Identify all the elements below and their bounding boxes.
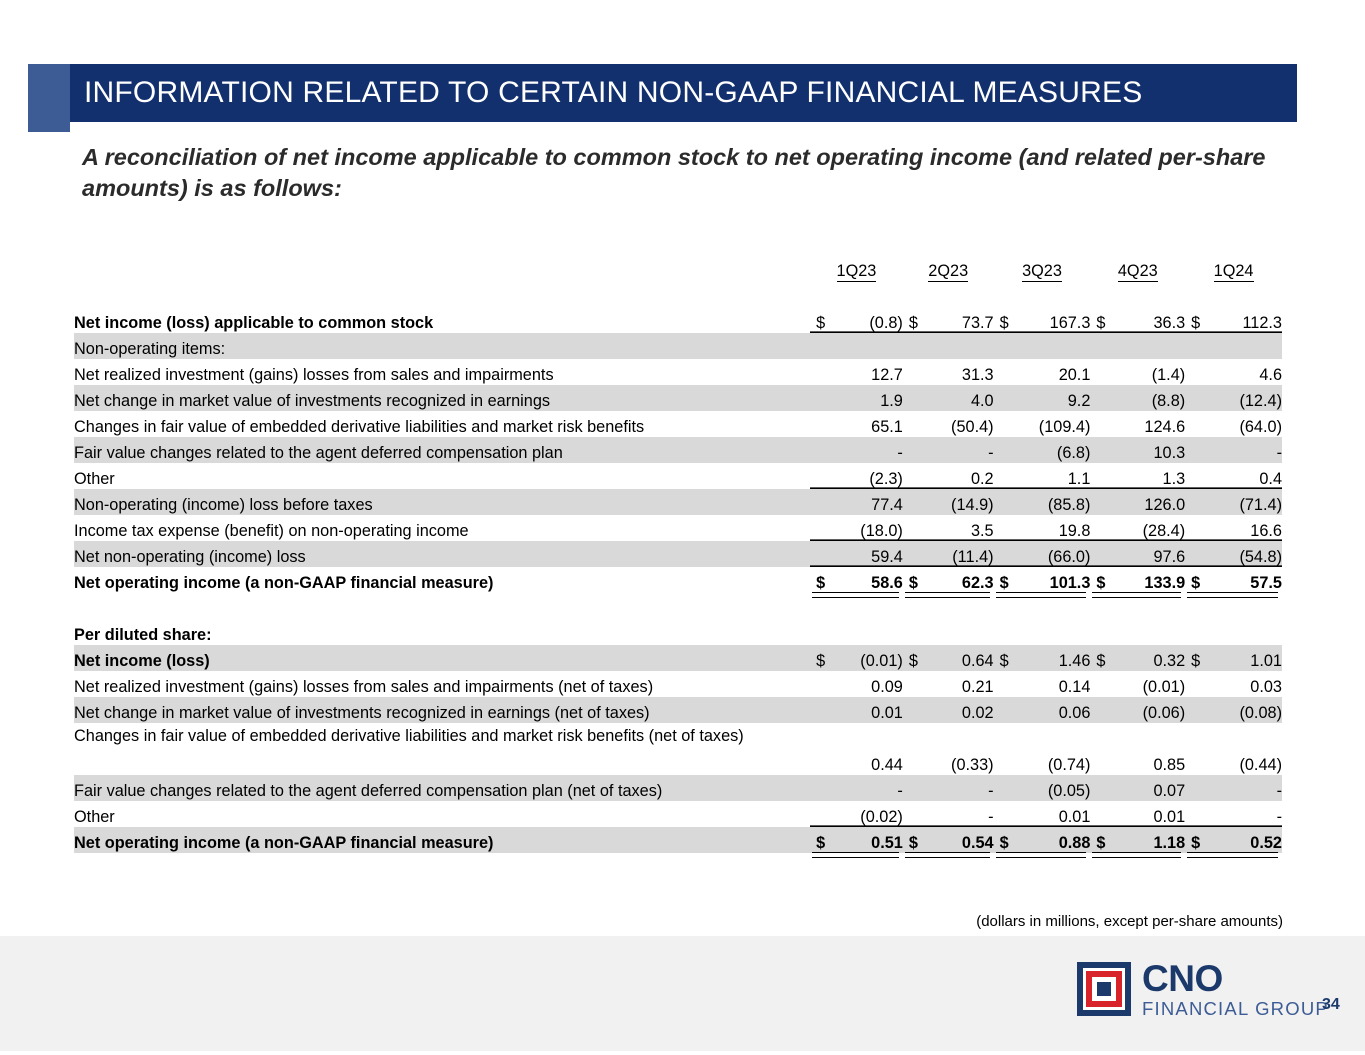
cell-value: (0.01) xyxy=(1090,671,1185,697)
currency-symbol: $ xyxy=(909,652,918,671)
cell-value: $167.3 xyxy=(994,307,1091,333)
row-label: Net change in market value of investment… xyxy=(74,385,810,411)
cell-value: 1.9 xyxy=(810,385,903,411)
cell-value: (109.4) xyxy=(994,411,1091,437)
cell-value: $0.54 xyxy=(903,827,994,853)
table-row-total: Net operating income (a non-GAAP financi… xyxy=(74,567,1282,593)
header-gap xyxy=(74,281,1282,307)
cell-value: 0.01 xyxy=(994,801,1091,827)
currency-symbol: $ xyxy=(1096,834,1105,853)
row-label: Net non-operating (income) loss xyxy=(74,541,810,567)
cell-value: (54.8) xyxy=(1185,541,1282,567)
row-label: Other xyxy=(74,801,810,827)
cell-value: 0.01 xyxy=(1090,801,1185,827)
cell-value: 10.3 xyxy=(1090,437,1185,463)
cell-value: (0.33) xyxy=(903,723,994,775)
table-row: Net non-operating (income) loss 59.4 (11… xyxy=(74,541,1282,567)
cell-value: 124.6 xyxy=(1090,411,1185,437)
row-label: Net income (loss) xyxy=(74,645,810,671)
column-header-4q23: 4Q23 xyxy=(1090,255,1185,281)
row-label: Net change in market value of investment… xyxy=(74,697,810,723)
row-label: Non-operating items: xyxy=(74,333,810,359)
cell-value: $0.52 xyxy=(1185,827,1282,853)
cell-value: - xyxy=(810,437,903,463)
cell-value: $1.46 xyxy=(994,645,1091,671)
cno-square-logo-icon xyxy=(1077,962,1131,1016)
cell-value: 1.1 xyxy=(994,463,1091,489)
table-row: Net change in market value of investment… xyxy=(74,697,1282,723)
table-row: Other (2.3) 0.2 1.1 1.3 0.4 xyxy=(74,463,1282,489)
row-label: Net operating income (a non-GAAP financi… xyxy=(74,567,810,593)
logo-wordmark: CNO FINANCIAL GROUP xyxy=(1142,960,1329,1019)
cell-value: (8.8) xyxy=(1090,385,1185,411)
table-row: Income tax expense (benefit) on non-oper… xyxy=(74,515,1282,541)
cell-value xyxy=(1185,333,1282,359)
row-label: Non-operating (income) loss before taxes xyxy=(74,489,810,515)
cell-value: - xyxy=(1185,775,1282,801)
currency-symbol: $ xyxy=(1000,314,1009,333)
currency-symbol: $ xyxy=(909,314,918,333)
cell-value: 31.3 xyxy=(903,359,994,385)
table-header-row: 1Q23 2Q23 3Q23 4Q23 1Q24 xyxy=(74,255,1282,281)
cell-value: 0.06 xyxy=(994,697,1091,723)
table-row: Changes in fair value of embedded deriva… xyxy=(74,723,1282,775)
cell-value: - xyxy=(903,801,994,827)
cell-value xyxy=(994,333,1091,359)
cell-value: 0.07 xyxy=(1090,775,1185,801)
cell-value: 0.09 xyxy=(810,671,903,697)
cell-value: 3.5 xyxy=(903,515,994,541)
cell-value: (2.3) xyxy=(810,463,903,489)
cell-value: (0.74) xyxy=(994,723,1091,775)
row-label: Other xyxy=(74,463,810,489)
page-title: INFORMATION RELATED TO CERTAIN NON-GAAP … xyxy=(70,76,1142,110)
cell-value: $58.6 xyxy=(810,567,903,593)
cno-logo: CNO FINANCIAL GROUP xyxy=(1077,960,1329,1019)
cell-value: 19.8 xyxy=(994,515,1091,541)
currency-symbol: $ xyxy=(1191,652,1200,671)
currency-symbol: $ xyxy=(909,574,918,593)
column-header-1q24: 1Q24 xyxy=(1185,255,1282,281)
cell-value: 1.3 xyxy=(1090,463,1185,489)
cell-value: (66.0) xyxy=(994,541,1091,567)
slide-title-bar: INFORMATION RELATED TO CERTAIN NON-GAAP … xyxy=(70,64,1297,122)
logo-company-name: CNO xyxy=(1142,960,1329,997)
cell-value: (0.08) xyxy=(1185,697,1282,723)
cell-value: - xyxy=(1185,801,1282,827)
row-label: Income tax expense (benefit) on non-oper… xyxy=(74,515,810,541)
currency-symbol: $ xyxy=(816,314,825,333)
table-row: Non-operating items: xyxy=(74,333,1282,359)
cell-value: 0.14 xyxy=(994,671,1091,697)
slide-subtitle: A reconciliation of net income applicabl… xyxy=(82,142,1282,204)
reconciliation-table: 1Q23 2Q23 3Q23 4Q23 1Q24 Net income (los… xyxy=(74,255,1282,853)
row-label: Fair value changes related to the agent … xyxy=(74,775,810,801)
cell-value: $133.9 xyxy=(1090,567,1185,593)
row-label: Net realized investment (gains) losses f… xyxy=(74,359,810,385)
currency-symbol: $ xyxy=(1000,574,1009,593)
cell-value: (11.4) xyxy=(903,541,994,567)
cell-value: 0.85 xyxy=(1090,723,1185,775)
cell-value: (14.9) xyxy=(903,489,994,515)
cell-value: (12.4) xyxy=(1185,385,1282,411)
logo-tagline: FINANCIAL GROUP xyxy=(1142,1000,1329,1019)
cell-value xyxy=(810,333,903,359)
per-share-section-header-row: Per diluted share: xyxy=(74,619,1282,645)
cell-value: 4.6 xyxy=(1185,359,1282,385)
currency-symbol: $ xyxy=(1000,652,1009,671)
cell-value: - xyxy=(1185,437,1282,463)
title-accent-block xyxy=(28,64,70,132)
cell-value: 16.6 xyxy=(1185,515,1282,541)
cell-value: $(0.01) xyxy=(810,645,903,671)
cell-value: (64.0) xyxy=(1185,411,1282,437)
currency-symbol: $ xyxy=(1191,574,1200,593)
column-header-3q23: 3Q23 xyxy=(994,255,1091,281)
cell-value xyxy=(810,619,903,645)
cell-value: 9.2 xyxy=(994,385,1091,411)
currency-symbol: $ xyxy=(1096,574,1105,593)
cell-value: $1.18 xyxy=(1090,827,1185,853)
cell-value: 97.6 xyxy=(1090,541,1185,567)
cell-value: 0.21 xyxy=(903,671,994,697)
cell-value: $(0.8) xyxy=(810,307,903,333)
cell-value: (85.8) xyxy=(994,489,1091,515)
currency-symbol: $ xyxy=(816,834,825,853)
table-row: Net income (loss) $(0.01) $0.64 $1.46 $0… xyxy=(74,645,1282,671)
cell-value: $57.5 xyxy=(1185,567,1282,593)
row-label: Net income (loss) applicable to common s… xyxy=(74,307,810,333)
cell-value xyxy=(1090,333,1185,359)
cell-value: 0.2 xyxy=(903,463,994,489)
cell-value xyxy=(994,619,1091,645)
column-header-2q23: 2Q23 xyxy=(903,255,994,281)
currency-symbol: $ xyxy=(816,574,825,593)
cell-value: (1.4) xyxy=(1090,359,1185,385)
cell-value: (28.4) xyxy=(1090,515,1185,541)
cell-value: $0.51 xyxy=(810,827,903,853)
cell-value: - xyxy=(810,775,903,801)
currency-symbol: $ xyxy=(1096,314,1105,333)
currency-symbol: $ xyxy=(1191,314,1200,333)
table-row: Net realized investment (gains) losses f… xyxy=(74,671,1282,697)
cell-value xyxy=(1185,619,1282,645)
cell-value xyxy=(903,619,994,645)
cell-value: (0.06) xyxy=(1090,697,1185,723)
row-label: Changes in fair value of embedded deriva… xyxy=(74,723,810,775)
table-row: Net income (loss) applicable to common s… xyxy=(74,307,1282,333)
row-label: Net operating income (a non-GAAP financi… xyxy=(74,827,810,853)
cell-value: 59.4 xyxy=(810,541,903,567)
cell-value: (71.4) xyxy=(1185,489,1282,515)
cell-value: 4.0 xyxy=(903,385,994,411)
table-row: Changes in fair value of embedded deriva… xyxy=(74,411,1282,437)
cell-value: $112.3 xyxy=(1185,307,1282,333)
cell-value: - xyxy=(903,437,994,463)
row-label: Net realized investment (gains) losses f… xyxy=(74,671,810,697)
table-row: Fair value changes related to the agent … xyxy=(74,437,1282,463)
cell-value: 20.1 xyxy=(994,359,1091,385)
cell-value xyxy=(903,333,994,359)
table-row: Other (0.02) - 0.01 0.01 - xyxy=(74,801,1282,827)
cell-value: $1.01 xyxy=(1185,645,1282,671)
cell-value: (6.8) xyxy=(994,437,1091,463)
cell-value: 0.4 xyxy=(1185,463,1282,489)
cell-value: 65.1 xyxy=(810,411,903,437)
currency-symbol: $ xyxy=(909,834,918,853)
cell-value: $0.88 xyxy=(994,827,1091,853)
section-header: Per diluted share: xyxy=(74,619,810,645)
cell-value: (50.4) xyxy=(903,411,994,437)
cell-value: $0.32 xyxy=(1090,645,1185,671)
currency-symbol: $ xyxy=(816,652,825,671)
cell-value: $101.3 xyxy=(994,567,1091,593)
header-spacer xyxy=(74,255,810,281)
cell-value: (18.0) xyxy=(810,515,903,541)
cell-value: 0.01 xyxy=(810,697,903,723)
cell-value: (0.44) xyxy=(1185,723,1282,775)
currency-symbol: $ xyxy=(1000,834,1009,853)
table-row: Non-operating (income) loss before taxes… xyxy=(74,489,1282,515)
cell-value: 12.7 xyxy=(810,359,903,385)
table-row: Net realized investment (gains) losses f… xyxy=(74,359,1282,385)
currency-symbol: $ xyxy=(1191,834,1200,853)
cell-value: $73.7 xyxy=(903,307,994,333)
cell-value: 0.44 xyxy=(810,723,903,775)
table-row: Fair value changes related to the agent … xyxy=(74,775,1282,801)
units-footnote: (dollars in millions, except per-share a… xyxy=(976,913,1283,930)
currency-symbol: $ xyxy=(1096,652,1105,671)
column-header-1q23: 1Q23 xyxy=(810,255,903,281)
cell-value: (0.05) xyxy=(994,775,1091,801)
cell-value: 77.4 xyxy=(810,489,903,515)
table-row-total: Net operating income (a non-GAAP financi… xyxy=(74,827,1282,853)
table-row: Net change in market value of investment… xyxy=(74,385,1282,411)
cell-value: (0.02) xyxy=(810,801,903,827)
cell-value: 0.02 xyxy=(903,697,994,723)
cell-value xyxy=(1090,619,1185,645)
cell-value: 126.0 xyxy=(1090,489,1185,515)
row-label: Fair value changes related to the agent … xyxy=(74,437,810,463)
row-label: Changes in fair value of embedded deriva… xyxy=(74,411,810,437)
cell-value: $36.3 xyxy=(1090,307,1185,333)
page-number: 34 xyxy=(1322,996,1340,1014)
cell-value: $62.3 xyxy=(903,567,994,593)
cell-value: 0.03 xyxy=(1185,671,1282,697)
cell-value: - xyxy=(903,775,994,801)
cell-value: $0.64 xyxy=(903,645,994,671)
